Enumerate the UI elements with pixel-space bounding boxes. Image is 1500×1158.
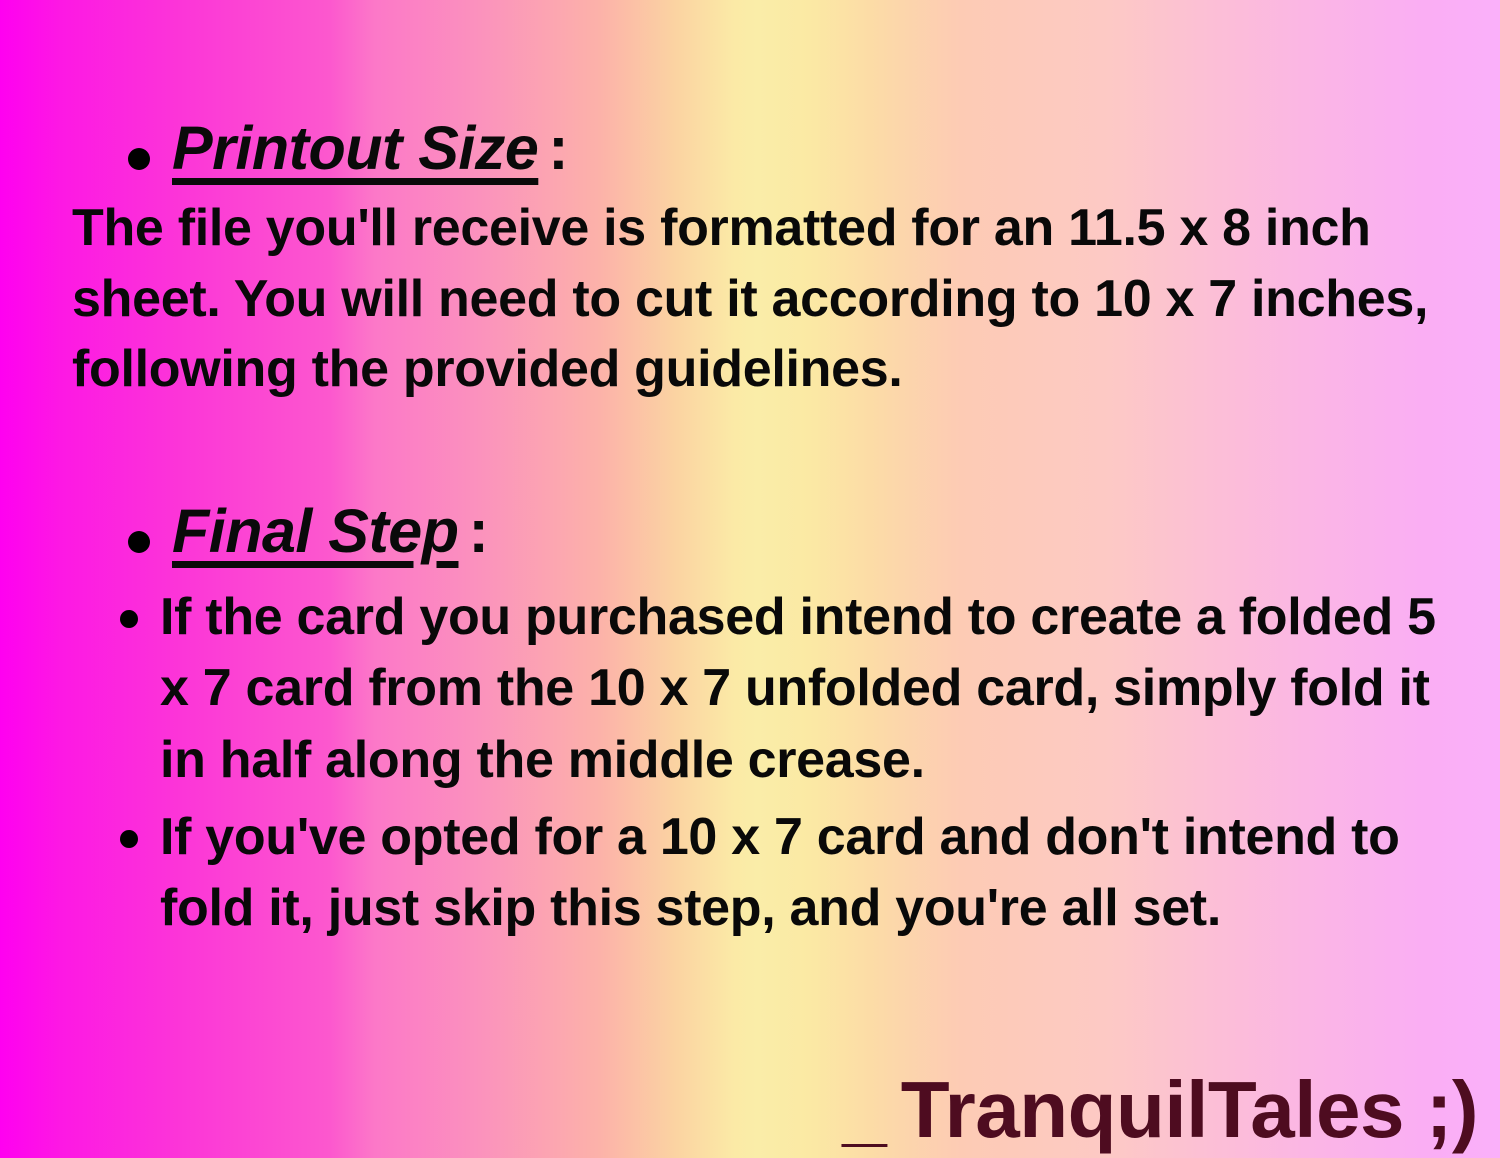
heading-text-printout-size: Printout Size: [172,118,568,179]
section-heading-printout-size: Printout Size: [0,118,1500,179]
heading-colon-final-step: : [458,497,488,565]
signature-brand-name: TranquilTales ;) [901,1070,1478,1150]
heading-colon-printout-size: : [538,114,568,182]
paragraph-printout-size: The file you'll receive is formatted for… [0,193,1500,405]
heading-label-printout-size: Printout Size [172,114,538,182]
signature: _ TranquilTales ;) [842,1070,1478,1150]
list-item: If you've opted for a 10 x 7 card and do… [120,802,1448,944]
heading-list-gap [0,562,1500,582]
list-item: If the card you purchased intend to crea… [120,582,1448,796]
bullet-point-icon [120,830,138,848]
bullet-point-icon [128,148,150,170]
top-spacer [0,0,1500,118]
list-item-text: If you've opted for a 10 x 7 card and do… [160,802,1448,944]
section-gap [0,405,1500,501]
bullet-point-icon [128,531,150,553]
signature-prefix: _ [842,1070,887,1150]
bullet-point-icon [120,610,138,628]
section-heading-final-step: Final Step: [0,501,1500,562]
final-step-bullet-list: If the card you purchased intend to crea… [0,582,1500,944]
heading-label-final-step: Final Step [172,497,458,565]
slide-content: Printout Size: The file you'll receive i… [0,0,1500,950]
list-item-text: If the card you purchased intend to crea… [160,582,1448,796]
printout-instructions-slide: Printout Size: The file you'll receive i… [0,0,1500,1158]
heading-text-final-step: Final Step: [172,501,488,562]
